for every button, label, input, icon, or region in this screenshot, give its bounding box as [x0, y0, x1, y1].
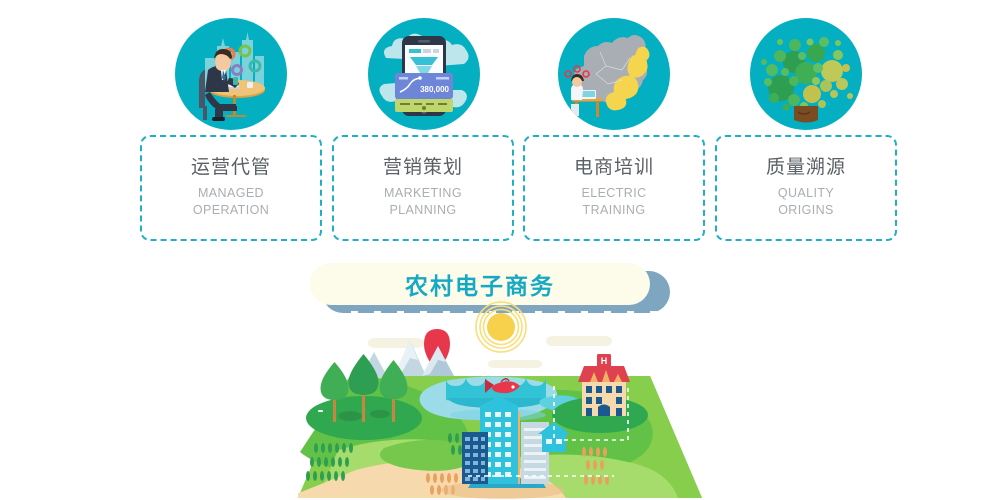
smartphone-marketing-funnel-icon: 380,000 [368, 18, 480, 130]
village-island-illustration: H [298, 300, 702, 500]
service-card-quality-origins[interactable]: 质量溯源 QUALITY ORIGINS [715, 135, 897, 241]
card-en-line2: ORIGINS [778, 203, 834, 217]
svg-text:380,000: 380,000 [420, 85, 449, 94]
service-card-marketing-planning[interactable]: 营销策划 MARKETING PLANNING [332, 135, 514, 241]
businessman-laptop-city-icon [175, 18, 287, 130]
card-en-line2: TRAINING [583, 203, 646, 217]
card-title-en: QUALITY ORIGINS [778, 185, 834, 218]
banner-title: 农村电子商务 [405, 267, 555, 301]
banner-pill[interactable]: 农村电子商务 [310, 263, 650, 305]
icon-circle-managed-operation[interactable] [175, 18, 287, 130]
card-en-line1: ELECTRIC [581, 186, 646, 200]
card-en-line1: MARKETING [384, 186, 462, 200]
card-en-line2: OPERATION [193, 203, 269, 217]
sun-icon [476, 302, 526, 352]
card-en-line1: MANAGED [198, 186, 264, 200]
service-card-electric-training[interactable]: 电商培训 ELECTRIC TRAINING [523, 135, 705, 241]
card-title-en: MARKETING PLANNING [384, 185, 462, 218]
service-card-row: 运营代管 MANAGED OPERATION 营销策划 MARKETING PL… [0, 135, 1000, 243]
card-title-cn: 运营代管 [191, 158, 271, 179]
infographic-canvas: 380,000 [0, 0, 1000, 500]
card-en-line2: PLANNING [389, 203, 456, 217]
icon-circle-marketing-planning[interactable]: 380,000 [368, 18, 480, 130]
card-title-en: ELECTRIC TRAINING [581, 185, 646, 218]
card-title-cn: 质量溯源 [766, 158, 846, 179]
china-map-training-desk-icon [558, 18, 670, 130]
bubble-tree-quality-icon [750, 18, 862, 130]
icon-circle-electric-training[interactable] [558, 18, 670, 130]
icon-circle-quality-origins[interactable] [750, 18, 862, 130]
card-title-cn: 营销策划 [383, 158, 463, 179]
card-title-cn: 电商培训 [574, 158, 654, 179]
map-marker-dot [318, 410, 323, 412]
service-card-managed-operation[interactable]: 运营代管 MANAGED OPERATION [140, 135, 322, 241]
card-en-line1: QUALITY [778, 186, 834, 200]
card-title-en: MANAGED OPERATION [193, 185, 269, 218]
svg-text:H: H [601, 356, 608, 366]
icon-circle-row: 380,000 [0, 18, 1000, 136]
